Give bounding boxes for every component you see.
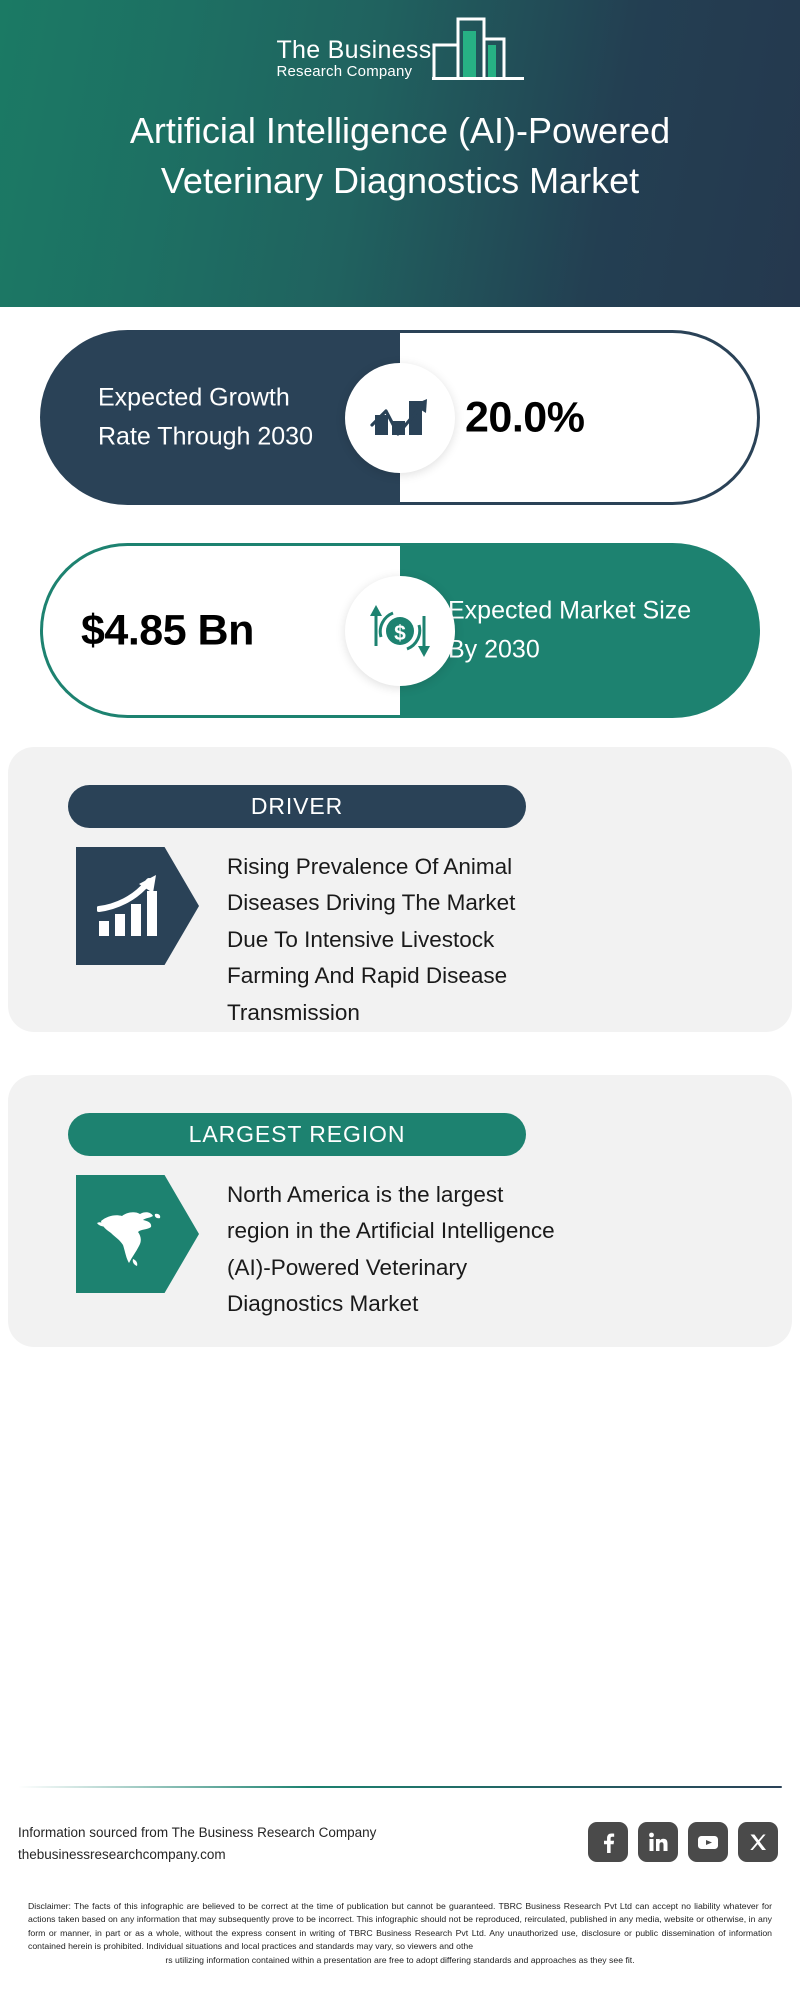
stat-label-text: Expected Growth Rate Through 2030 <box>98 378 348 457</box>
driver-pill: DRIVER <box>68 785 526 828</box>
x-twitter-icon[interactable] <box>738 1822 778 1862</box>
youtube-icon[interactable] <box>688 1822 728 1862</box>
social-links <box>588 1822 778 1862</box>
infographic-page: The Business Research Company Artificial… <box>0 0 800 2000</box>
disclaimer-main: Disclaimer: The facts of this infographi… <box>28 1901 772 1951</box>
logo-line2: Research Company <box>276 63 412 82</box>
stat-value-text: 20.0% <box>465 393 725 442</box>
footer-divider <box>18 1786 782 1788</box>
page-title: Artificial Intelligence (AI)-Powered Vet… <box>80 106 720 205</box>
disclaimer-last: rs utilizing information contained withi… <box>28 1954 772 1967</box>
logo-line1: The Business <box>276 38 431 63</box>
region-pill: LARGEST REGION <box>68 1113 526 1156</box>
footer-source-line2[interactable]: thebusinessresearchcompany.com <box>18 1844 376 1866</box>
bar-chart-logo-icon <box>432 15 524 88</box>
facebook-icon[interactable] <box>588 1822 628 1862</box>
disclaimer: Disclaimer: The facts of this infographi… <box>28 1900 772 1967</box>
driver-panel: DRIVER Rising Prevalence Of Animal Disea… <box>8 747 792 1032</box>
region-text: North America is the largest region in t… <box>227 1175 557 1323</box>
footer-source-line1: Information sourced from The Business Re… <box>18 1822 376 1844</box>
stat-label-text: Expected Market Size By 2030 <box>448 591 718 670</box>
driver-body: Rising Prevalence Of Animal Diseases Dri… <box>76 847 742 1031</box>
north-america-map-icon <box>76 1175 199 1293</box>
driver-text: Rising Prevalence Of Animal Diseases Dri… <box>227 847 557 1031</box>
growth-bars-arrow-icon <box>76 847 199 965</box>
svg-text:$: $ <box>394 622 406 645</box>
region-body: North America is the largest region in t… <box>76 1175 742 1323</box>
footer-source: Information sourced from The Business Re… <box>18 1822 376 1866</box>
company-logo: The Business Research Company <box>276 18 523 88</box>
logo-wordmark: The Business Research Company <box>276 38 431 88</box>
region-panel: LARGEST REGION North America is the larg… <box>8 1075 792 1347</box>
header: The Business Research Company Artificial… <box>0 0 800 307</box>
stat-card-market-size: $4.85 Bn Expected Market Size By 2030 $ <box>40 543 760 718</box>
dollar-circular-arrows-icon: $ <box>345 576 455 686</box>
linkedin-icon[interactable] <box>638 1822 678 1862</box>
stat-value-text: $4.85 Bn <box>81 606 351 655</box>
stat-card-growth-rate: Expected Growth Rate Through 2030 20.0% <box>40 330 760 505</box>
growth-chart-arrow-icon <box>345 363 455 473</box>
